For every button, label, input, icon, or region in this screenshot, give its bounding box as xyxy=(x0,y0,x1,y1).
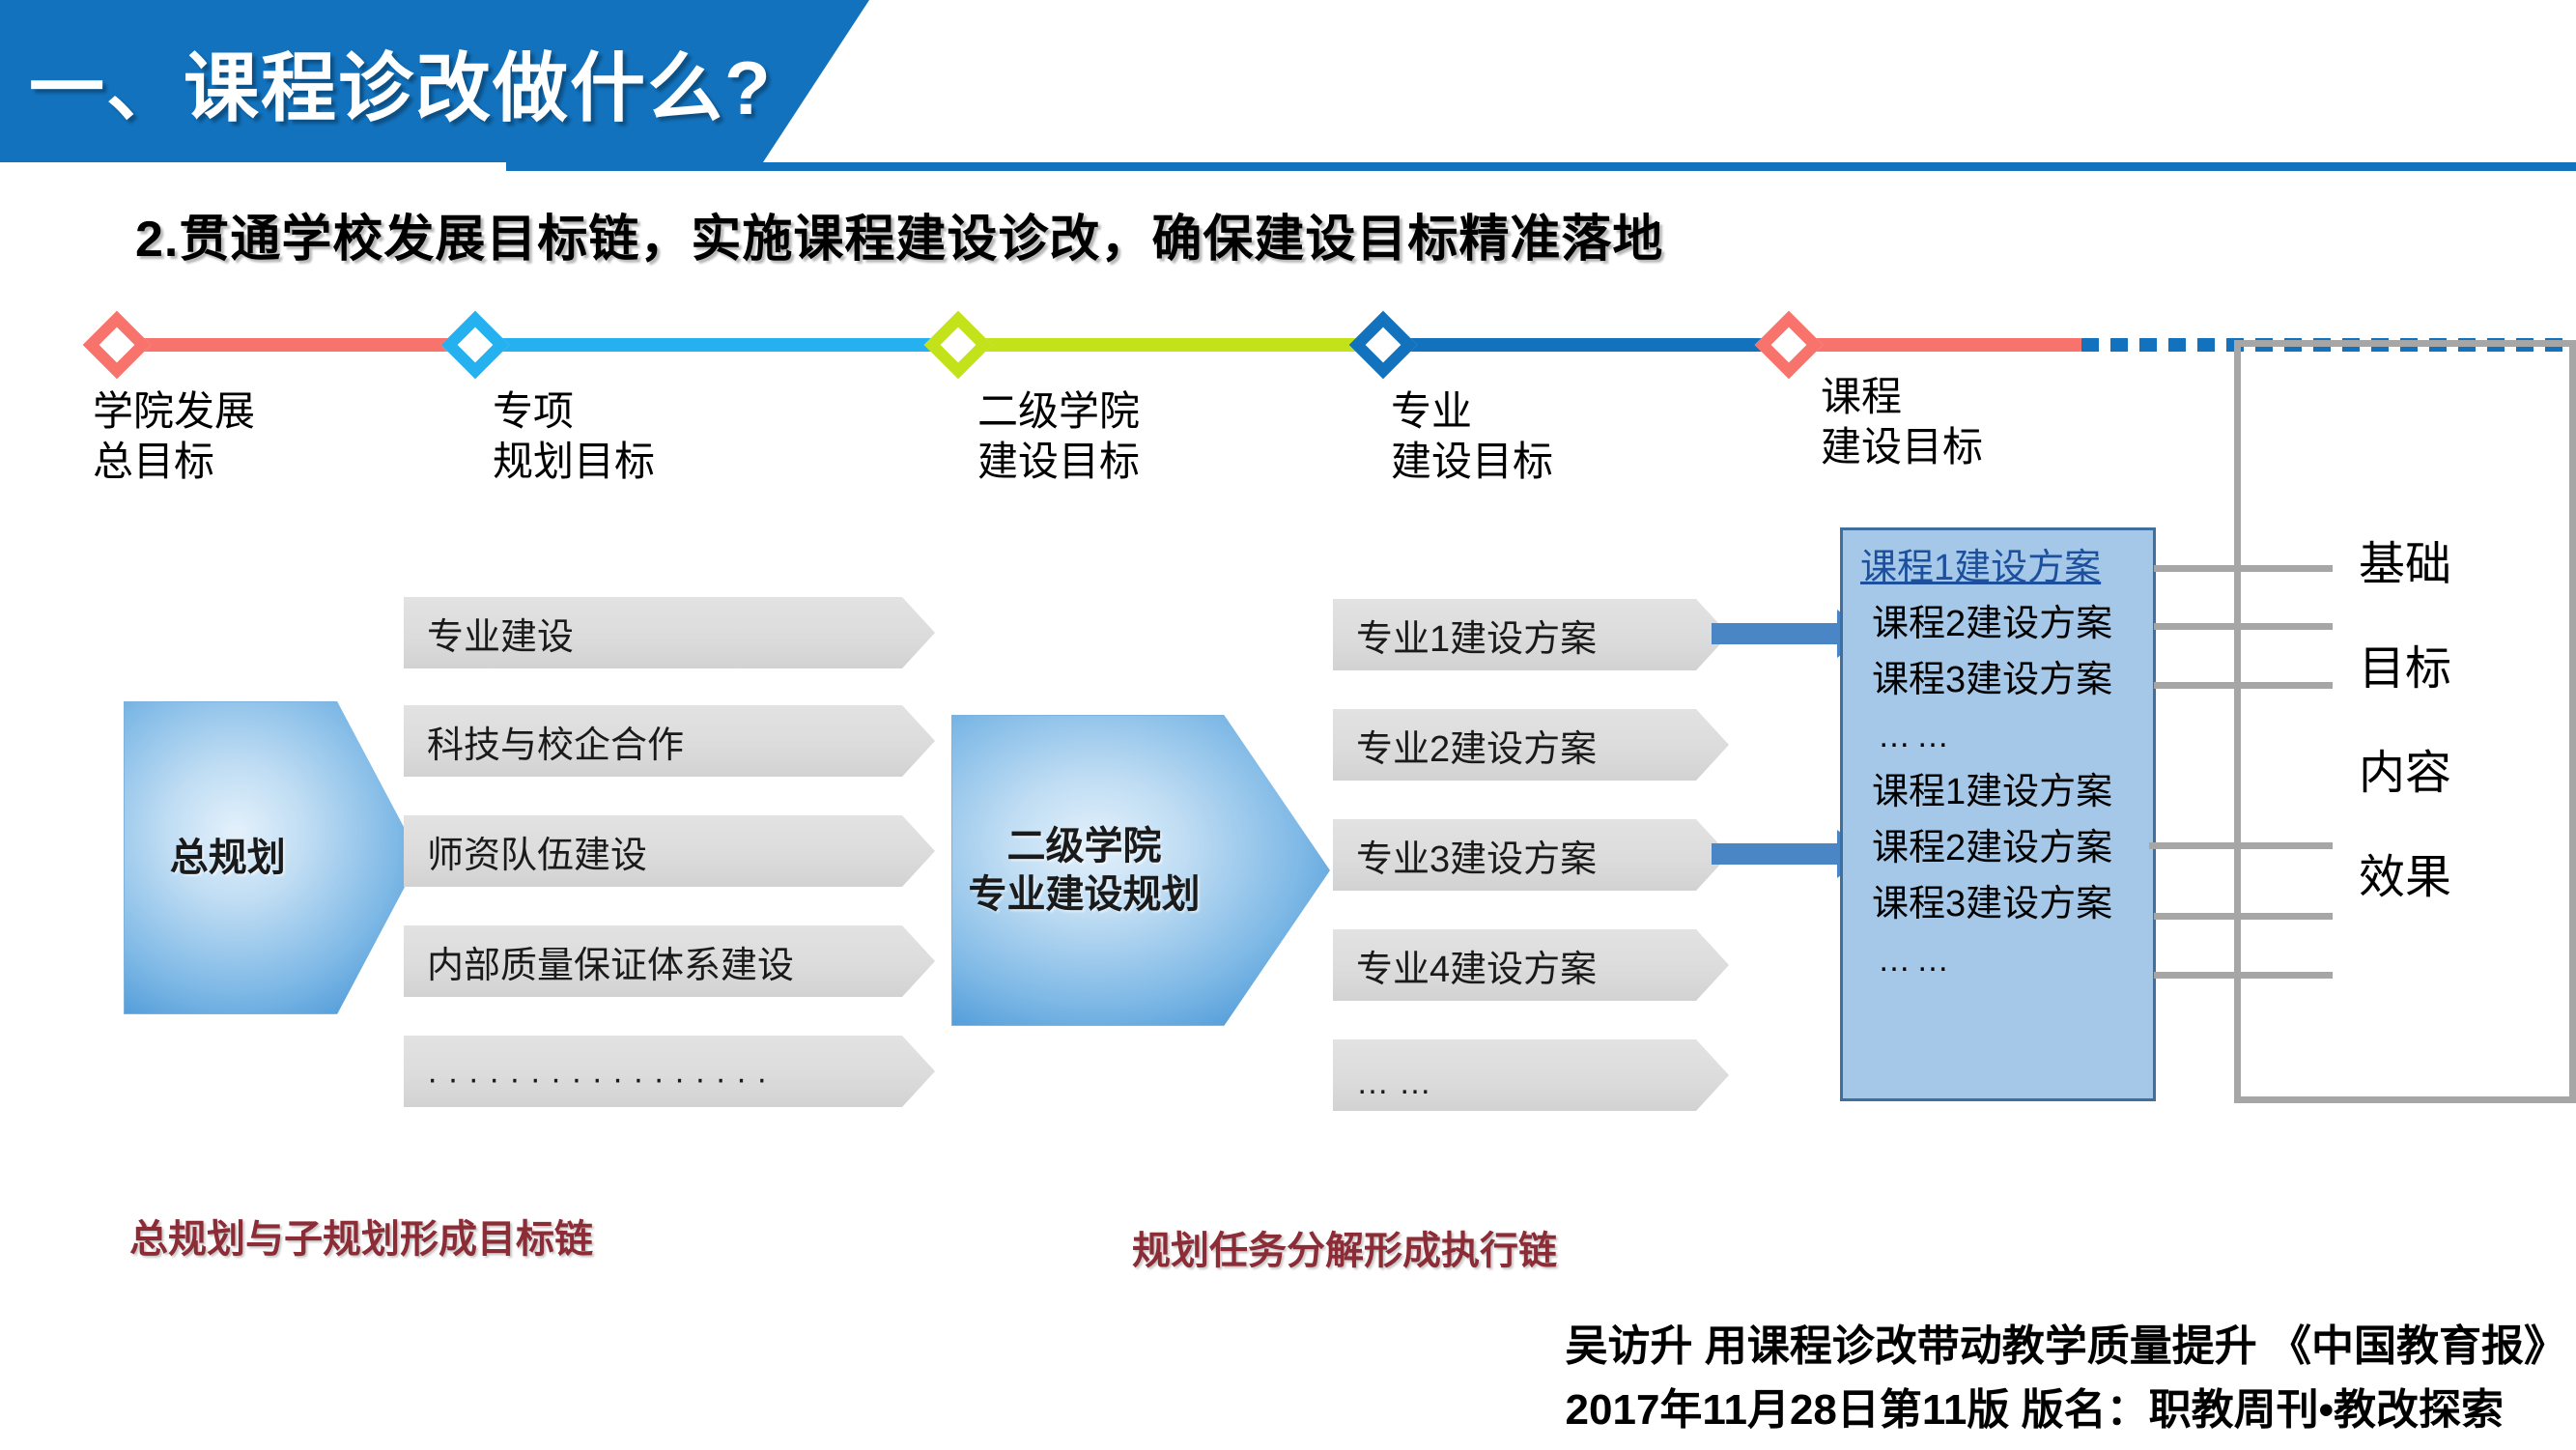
middle-chevron-4[interactable]: 专业4建设方案 xyxy=(1333,929,1729,1001)
middle-chevron-5-label: …… xyxy=(1333,1065,1441,1102)
course-dimensions-box: 基础 目标 内容 效果 xyxy=(2234,340,2576,1103)
timeline-node-5-diamond xyxy=(1755,311,1824,380)
timeline-segment-3 xyxy=(956,338,1391,352)
middle-chevron-4-label: 专业4建设方案 xyxy=(1333,939,1597,992)
overall-plan-hub-label: 总规划 xyxy=(125,834,331,882)
left-chevron-1[interactable]: 专业建设 xyxy=(404,597,935,668)
timeline-label-4-line1: 专业 xyxy=(1391,386,1553,437)
timeline-node-3-diamond xyxy=(924,311,993,380)
right-column-item-1: 基础 xyxy=(2359,538,2451,592)
timeline-label-2: 专项 规划目标 xyxy=(493,386,655,487)
left-chevron-1-label: 专业建设 xyxy=(404,607,574,660)
left-chevron-4[interactable]: 内部质量保证体系建设 xyxy=(404,925,935,997)
timeline-segment-2 xyxy=(473,338,966,352)
right-column-item-3: 内容 xyxy=(2359,747,2451,801)
middle-chevron-3-label: 专业3建设方案 xyxy=(1333,829,1597,882)
course-line-8: …… xyxy=(1843,932,2153,988)
middle-chevron-5[interactable]: …… xyxy=(1333,1039,1729,1111)
timeline-node-2-diamond xyxy=(441,311,510,380)
college-major-plan-hub-line2: 专业建设规划 xyxy=(952,870,1216,919)
college-major-plan-hub: 二级学院 专业建设规划 xyxy=(951,715,1330,1026)
middle-chevron-2-label: 专业2建设方案 xyxy=(1333,719,1597,772)
course-line-2: 课程2建设方案 xyxy=(1843,596,2153,652)
timeline-node-1-diamond xyxy=(83,311,152,380)
college-major-plan-hub-label: 二级学院 专业建设规划 xyxy=(952,822,1216,919)
timeline-label-2-line2: 规划目标 xyxy=(493,437,655,487)
section-subtitle: 2.贯通学校发展目标链，实施课程建设诊改，确保建设目标精准落地 xyxy=(135,198,1663,270)
course-line-1[interactable]: 课程1建设方案 xyxy=(1843,540,2153,596)
timeline-segment-5 xyxy=(1787,338,2086,352)
source-line-1: 吴访升 用课程诊改带动教学质量提升 《中国教育报》 xyxy=(1566,1315,2566,1379)
left-group-caption: 总规划与子规划形成目标链 xyxy=(129,1208,593,1264)
timeline-label-5: 课程 建设目标 xyxy=(1821,372,1983,472)
timeline-label-3-line2: 建设目标 xyxy=(977,437,1140,487)
timeline-label-5-line1: 课程 xyxy=(1821,372,1983,422)
right-column-item-4: 效果 xyxy=(2359,851,2451,905)
left-chevron-3[interactable]: 师资队伍建设 xyxy=(404,815,935,887)
timeline-node-4-diamond xyxy=(1349,311,1418,380)
timeline-label-1-line1: 学院发展 xyxy=(93,386,255,437)
timeline-label-3-line1: 二级学院 xyxy=(977,386,1140,437)
college-major-plan-hub-line1: 二级学院 xyxy=(952,822,1216,870)
timeline-label-3: 二级学院 建设目标 xyxy=(977,386,1140,487)
overall-plan-hub-line1: 总规划 xyxy=(125,834,331,882)
source-attribution: 吴访升 用课程诊改带动教学质量提升 《中国教育报》 2017年11月28日第11… xyxy=(1566,1315,2566,1442)
course-line-4: …… xyxy=(1843,708,2153,764)
right-column-item-2: 目标 xyxy=(2359,642,2451,697)
left-chevron-4-label: 内部质量保证体系建设 xyxy=(404,935,794,988)
course-line-5: 课程1建设方案 xyxy=(1843,764,2153,820)
source-line-2: 2017年11月28日第11版 版名：职教周刊•教改探索 xyxy=(1566,1379,2566,1442)
course-plan-box: 课程1建设方案 课程2建设方案 课程3建设方案 …… 课程1建设方案 课程2建设… xyxy=(1840,527,2156,1101)
left-chevron-5-label: ················· xyxy=(404,1061,777,1098)
middle-chevron-1[interactable]: 专业1建设方案 xyxy=(1333,599,1729,670)
banner-underline-rule xyxy=(506,162,2576,171)
left-chevron-2[interactable]: 科技与校企合作 xyxy=(404,705,935,777)
timeline-label-2-line1: 专项 xyxy=(493,386,655,437)
timeline-label-1-line2: 总目标 xyxy=(93,437,255,487)
overall-plan-hub: 总规划 xyxy=(124,701,420,1014)
middle-chevron-1-label: 专业1建设方案 xyxy=(1333,609,1597,662)
timeline-label-5-line2: 建设目标 xyxy=(1821,422,1983,472)
arrow-major1-to-courses xyxy=(1712,623,1837,644)
arrow-major3-to-courses xyxy=(1712,843,1837,865)
timeline-segment-1 xyxy=(116,338,483,352)
course-line-7: 课程3建设方案 xyxy=(1843,876,2153,932)
goal-chain-timeline: 学院发展 总目标 专项 规划目标 二级学院 建设目标 专业 建设目标 课程 建设… xyxy=(0,0,2576,116)
middle-chevron-3[interactable]: 专业3建设方案 xyxy=(1333,819,1729,891)
left-chevron-2-label: 科技与校企合作 xyxy=(404,715,684,768)
course-line-6: 课程2建设方案 xyxy=(1843,820,2153,876)
left-chevron-3-label: 师资队伍建设 xyxy=(404,825,647,878)
course-line-3: 课程3建设方案 xyxy=(1843,652,2153,708)
middle-group-caption: 规划任务分解形成执行链 xyxy=(1132,1219,1557,1275)
timeline-segment-4 xyxy=(1381,338,1797,352)
middle-chevron-2[interactable]: 专业2建设方案 xyxy=(1333,709,1729,781)
timeline-label-1: 学院发展 总目标 xyxy=(93,386,255,487)
left-chevron-5[interactable]: ················· xyxy=(404,1036,935,1107)
timeline-label-4-line2: 建设目标 xyxy=(1391,437,1553,487)
timeline-label-4: 专业 建设目标 xyxy=(1391,386,1553,487)
